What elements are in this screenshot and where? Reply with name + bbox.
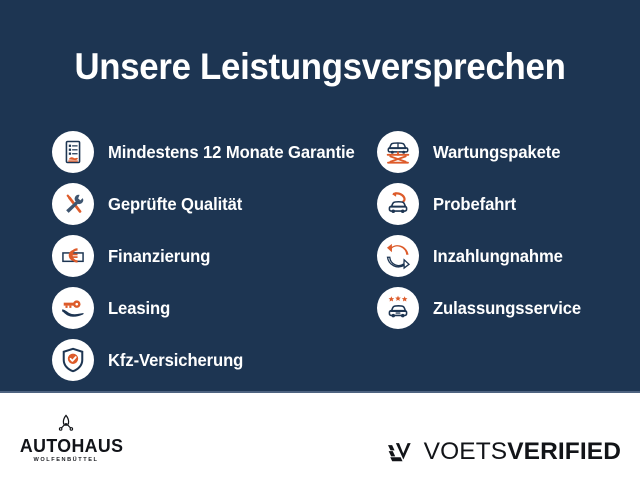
voets-wordmark: VOETSVERIFIED bbox=[424, 439, 621, 465]
feature-item-qualitaet[interactable]: Geprüfte Qualität bbox=[52, 178, 382, 230]
feature-item-inzahlungnahme[interactable]: Inzahlungnahme bbox=[377, 230, 632, 282]
feature-item-versicherung[interactable]: Kfz-Versicherung bbox=[52, 334, 382, 386]
promotional-banner: Unsere Leistungsversprechen Mindestens 1… bbox=[0, 0, 640, 480]
feature-item-leasing[interactable]: Leasing bbox=[52, 282, 382, 334]
feature-label: Leasing bbox=[108, 298, 170, 318]
autohaus-logo[interactable]: AUTOHAUS WOLFENBÜTTEL bbox=[18, 413, 114, 465]
feature-item-finanzierung[interactable]: Finanzierung bbox=[52, 230, 382, 282]
autohaus-emblem-icon bbox=[55, 413, 77, 435]
exchange-arrows-icon bbox=[377, 235, 419, 277]
feature-label: Probefahrt bbox=[433, 194, 516, 214]
voets-word-bold: VERIFIED bbox=[507, 438, 621, 465]
car-route-arrow-icon bbox=[377, 183, 419, 225]
shield-check-icon bbox=[52, 339, 94, 381]
voets-verified-logo[interactable]: VOETSVERIFIED bbox=[385, 435, 621, 469]
feature-label: Mindestens 12 Monate Garantie bbox=[108, 142, 355, 162]
page-title: Unsere Leistungsversprechen bbox=[19, 45, 621, 89]
car-three-stars-icon bbox=[377, 287, 419, 329]
feature-label: Zulassungsservice bbox=[433, 298, 581, 318]
voets-v-chevron-icon bbox=[385, 437, 415, 467]
feature-label: Wartungspakete bbox=[433, 142, 560, 162]
autohaus-subline: WOLFENBÜTTEL bbox=[18, 456, 114, 465]
document-checklist-stamp-icon bbox=[52, 131, 94, 173]
feature-item-garantie[interactable]: Mindestens 12 Monate Garantie bbox=[52, 126, 382, 178]
feature-list-left: Mindestens 12 Monate Garantie Geprüfte Q… bbox=[52, 126, 382, 386]
feature-item-zulassungsservice[interactable]: Zulassungsservice bbox=[377, 282, 632, 334]
autohaus-wordmark: AUTOHAUS bbox=[20, 436, 112, 455]
feature-item-wartungspakete[interactable]: Wartungspakete bbox=[377, 126, 632, 178]
feature-label: Inzahlungnahme bbox=[433, 246, 563, 266]
feature-list-right: Wartungspakete Probefahrt bbox=[377, 126, 632, 334]
feature-label: Finanzierung bbox=[108, 246, 210, 266]
feature-label: Kfz-Versicherung bbox=[108, 350, 243, 370]
key-in-hand-icon bbox=[52, 287, 94, 329]
car-on-lift-icon bbox=[377, 131, 419, 173]
footer-bar: AUTOHAUS WOLFENBÜTTEL VOETSVERIFIED bbox=[0, 393, 640, 480]
wrench-screwdriver-icon bbox=[52, 183, 94, 225]
euro-banknote-icon bbox=[52, 235, 94, 277]
feature-item-probefahrt[interactable]: Probefahrt bbox=[377, 178, 632, 230]
voets-word-light: VOETS bbox=[424, 438, 508, 465]
feature-label: Geprüfte Qualität bbox=[108, 194, 242, 214]
